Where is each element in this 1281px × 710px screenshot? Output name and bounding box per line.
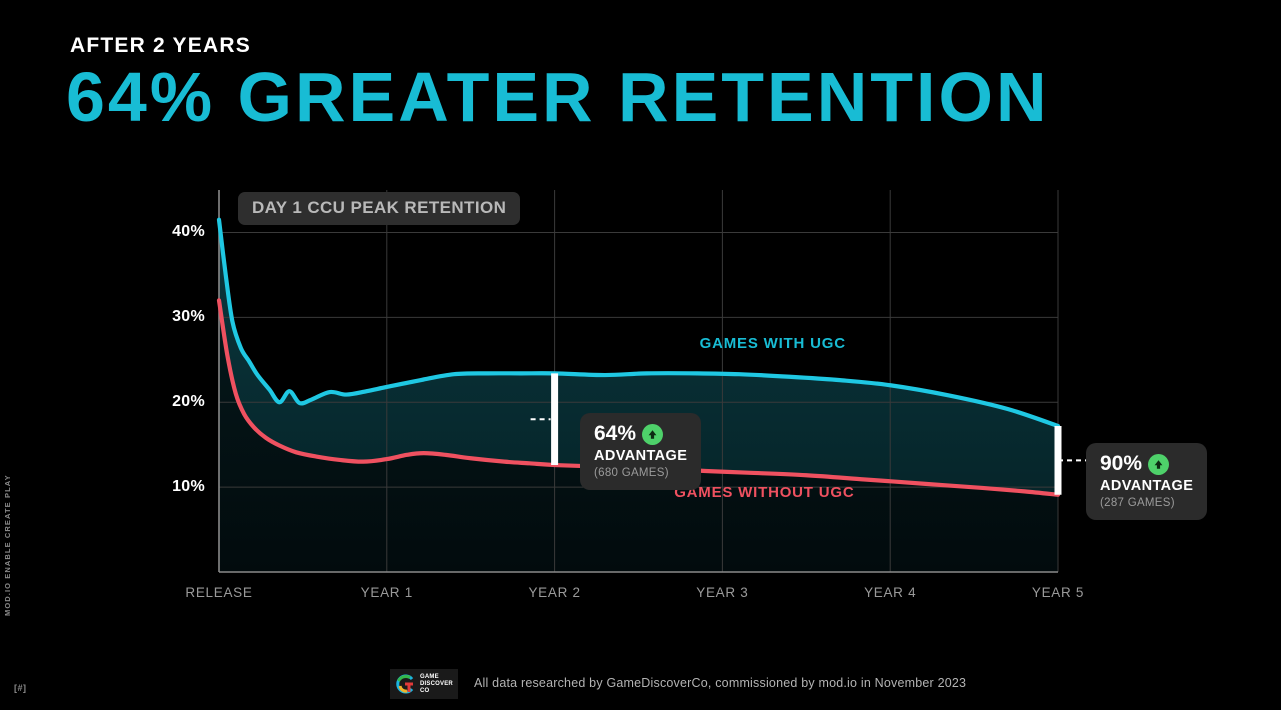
callout-label: ADVANTAGE [1100,478,1193,494]
callout-subtext: (680 GAMES) [594,467,687,479]
brand-rail-text: MOD.IO ENABLE CREATE PLAY [3,474,12,616]
page-number: [#] [14,683,27,693]
callout-value: 64% [594,423,636,445]
slide-root: AFTER 2 YEARS 64% GREATER RETENTION DAY … [0,0,1281,710]
y-axis-tick-label: 20% [172,393,205,411]
x-axis-tick-label: YEAR 2 [528,585,580,600]
x-axis-tick-label: RELEASE [185,585,252,600]
logo-line-1: GAME [420,674,453,681]
series-label-games-without-ugc: GAMES WITHOUT UGC [674,484,854,501]
x-axis-tick-label: YEAR 1 [361,585,413,600]
up-arrow-icon [1148,454,1169,475]
x-axis-tick-label: YEAR 5 [1032,585,1084,600]
callout-value-row: 90% [1100,453,1193,475]
y-axis-tick-label: 40% [172,223,205,241]
callout-value-row: 64% [594,423,687,445]
footer-attribution: All data researched by GameDiscoverCo, c… [474,676,966,690]
chart-title-badge: DAY 1 CCU PEAK RETENTION [238,192,520,225]
logo-line-2: DISCOVER [420,681,453,688]
up-arrow-icon [642,424,663,445]
series-label-games-with-ugc: GAMES WITH UGC [700,335,846,352]
gamediscoverco-logo: GAME DISCOVER CO [390,669,458,699]
callout-label: ADVANTAGE [594,448,687,464]
callout-value: 90% [1100,453,1142,475]
callout-64-advantage: 64% ADVANTAGE (680 GAMES) [580,413,701,490]
logo-wordmark: GAME DISCOVER CO [420,674,453,695]
x-axis-tick-label: YEAR 4 [864,585,916,600]
callout-90-advantage: 90% ADVANTAGE (287 GAMES) [1086,443,1207,520]
callout-subtext: (287 GAMES) [1100,497,1193,509]
y-axis-tick-label: 30% [172,308,205,326]
retention-line-chart [0,0,1281,710]
y-axis-tick-label: 10% [172,478,205,496]
x-axis-tick-label: YEAR 3 [696,585,748,600]
gamediscoverco-g-logo-icon [394,673,416,695]
logo-line-3: CO [420,688,453,695]
